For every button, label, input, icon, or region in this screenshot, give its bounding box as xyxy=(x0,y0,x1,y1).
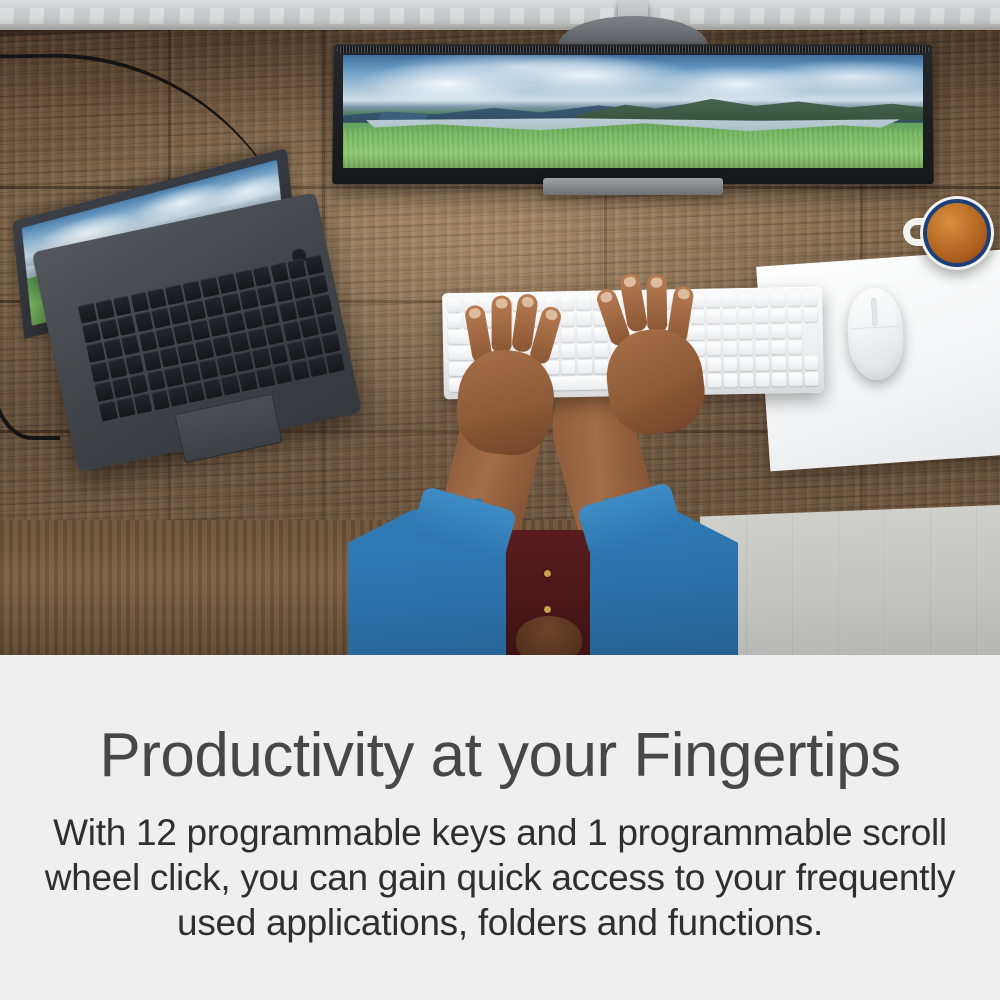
widescreen-monitor[interactable] xyxy=(333,44,933,184)
shirt-button xyxy=(544,606,551,613)
monitor-vents xyxy=(337,46,929,53)
coffee-mug xyxy=(920,196,994,270)
monitor-stand-foot xyxy=(543,178,723,195)
shirt-button xyxy=(544,570,551,577)
head-top xyxy=(516,616,582,655)
coffee-surface xyxy=(927,203,987,263)
laptop-keyboard[interactable] xyxy=(78,255,345,422)
caption-panel: Productivity at your Fingertips With 12 … xyxy=(0,655,1000,1000)
product-feature-card: Productivity at your Fingertips With 12 … xyxy=(0,0,1000,1000)
hero-photo xyxy=(0,0,1000,655)
wallpaper-grass xyxy=(343,118,923,168)
wall-backdrop xyxy=(0,0,1000,34)
caption-body-text: With 12 programmable keys and 1 programm… xyxy=(25,810,975,945)
monitor-screen xyxy=(343,55,923,168)
page-title: Productivity at your Fingertips xyxy=(99,723,900,788)
wallpaper-sky xyxy=(343,55,923,107)
